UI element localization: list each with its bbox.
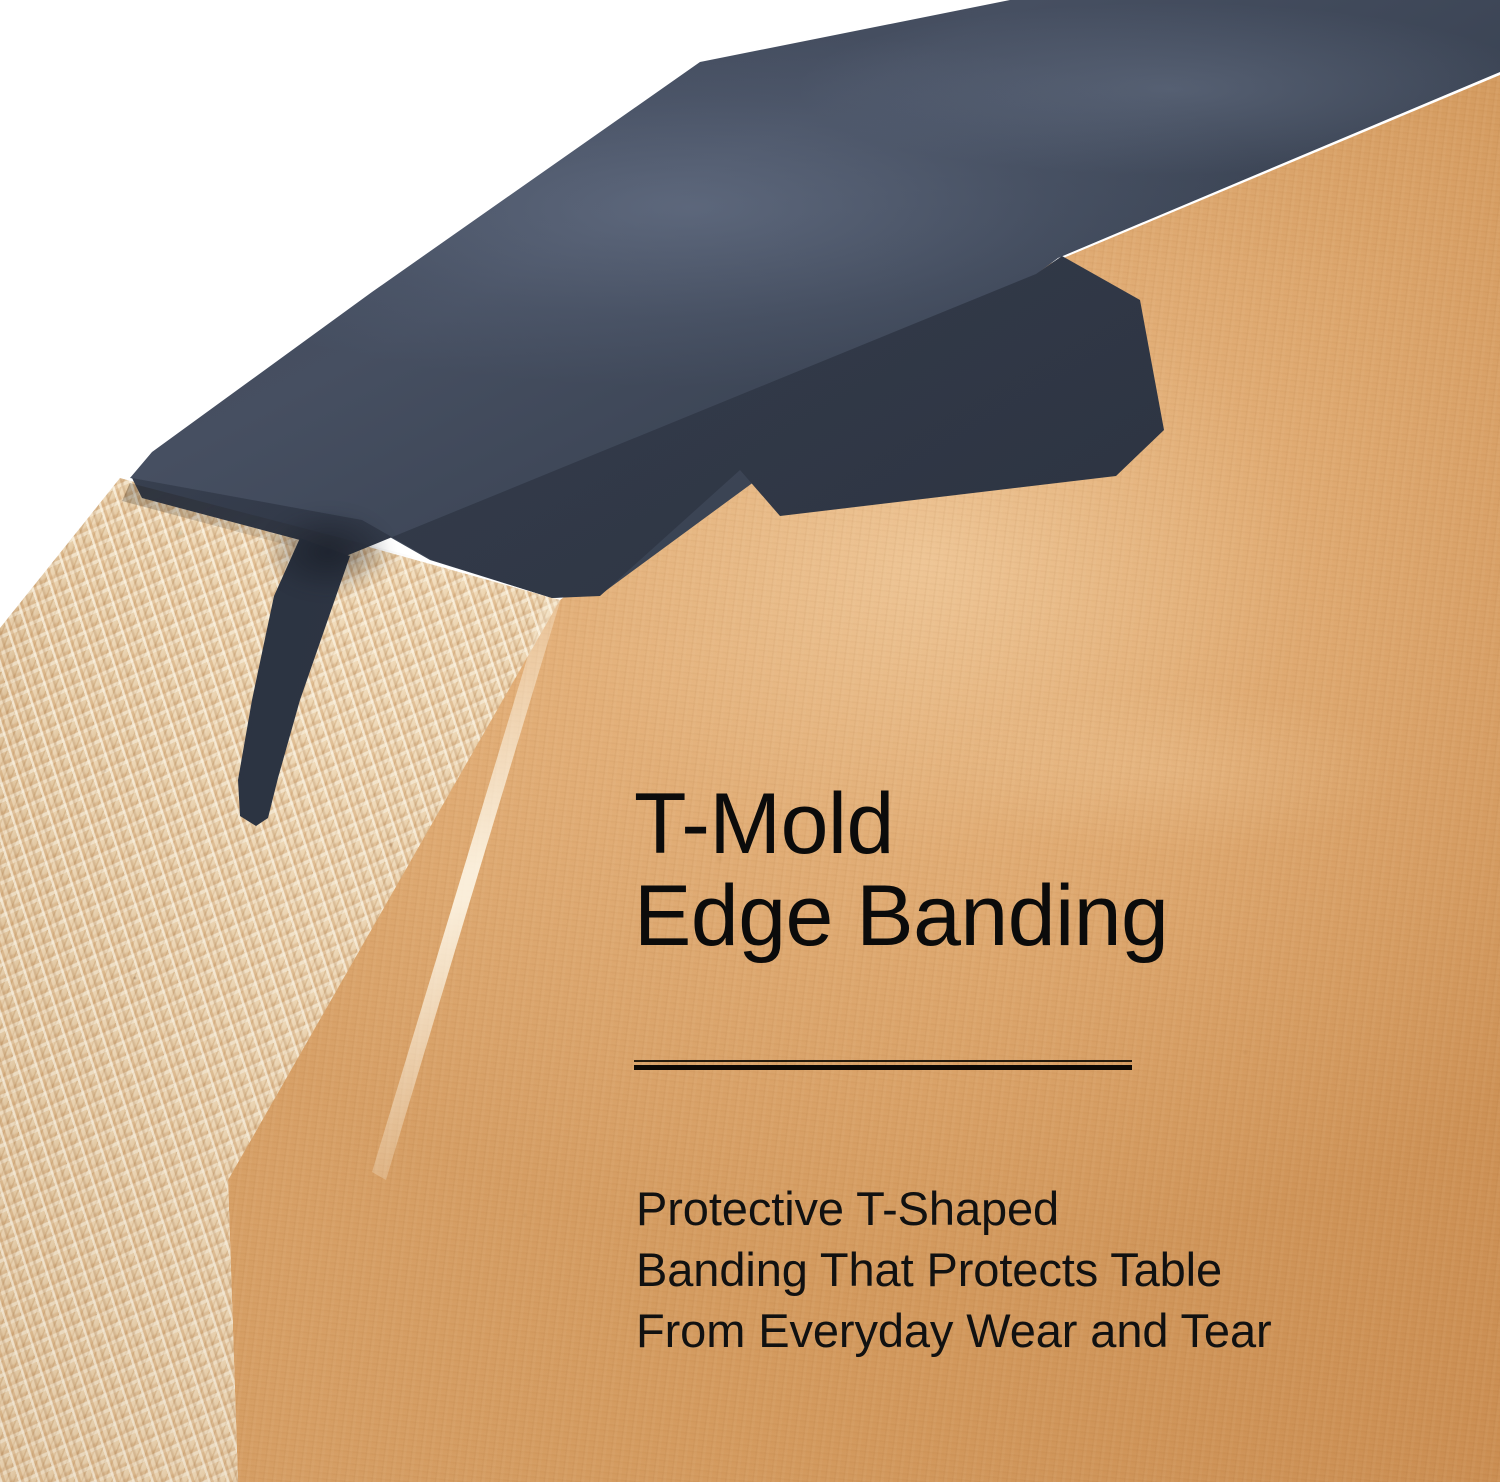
double-rule-divider xyxy=(634,1060,1132,1070)
t-mold-junction-shadow xyxy=(238,500,418,630)
marketing-copy-block: T-Mold Edge Banding Protective T-Shaped … xyxy=(634,778,1424,962)
product-feature-image: T-Mold Edge Banding Protective T-Shaped … xyxy=(0,0,1500,1482)
divider-rule-thick xyxy=(634,1065,1132,1070)
body-copy: Protective T-Shaped Banding That Protect… xyxy=(636,1178,1272,1361)
divider-rule-thin xyxy=(634,1060,1132,1062)
headline: T-Mold Edge Banding xyxy=(634,778,1424,962)
